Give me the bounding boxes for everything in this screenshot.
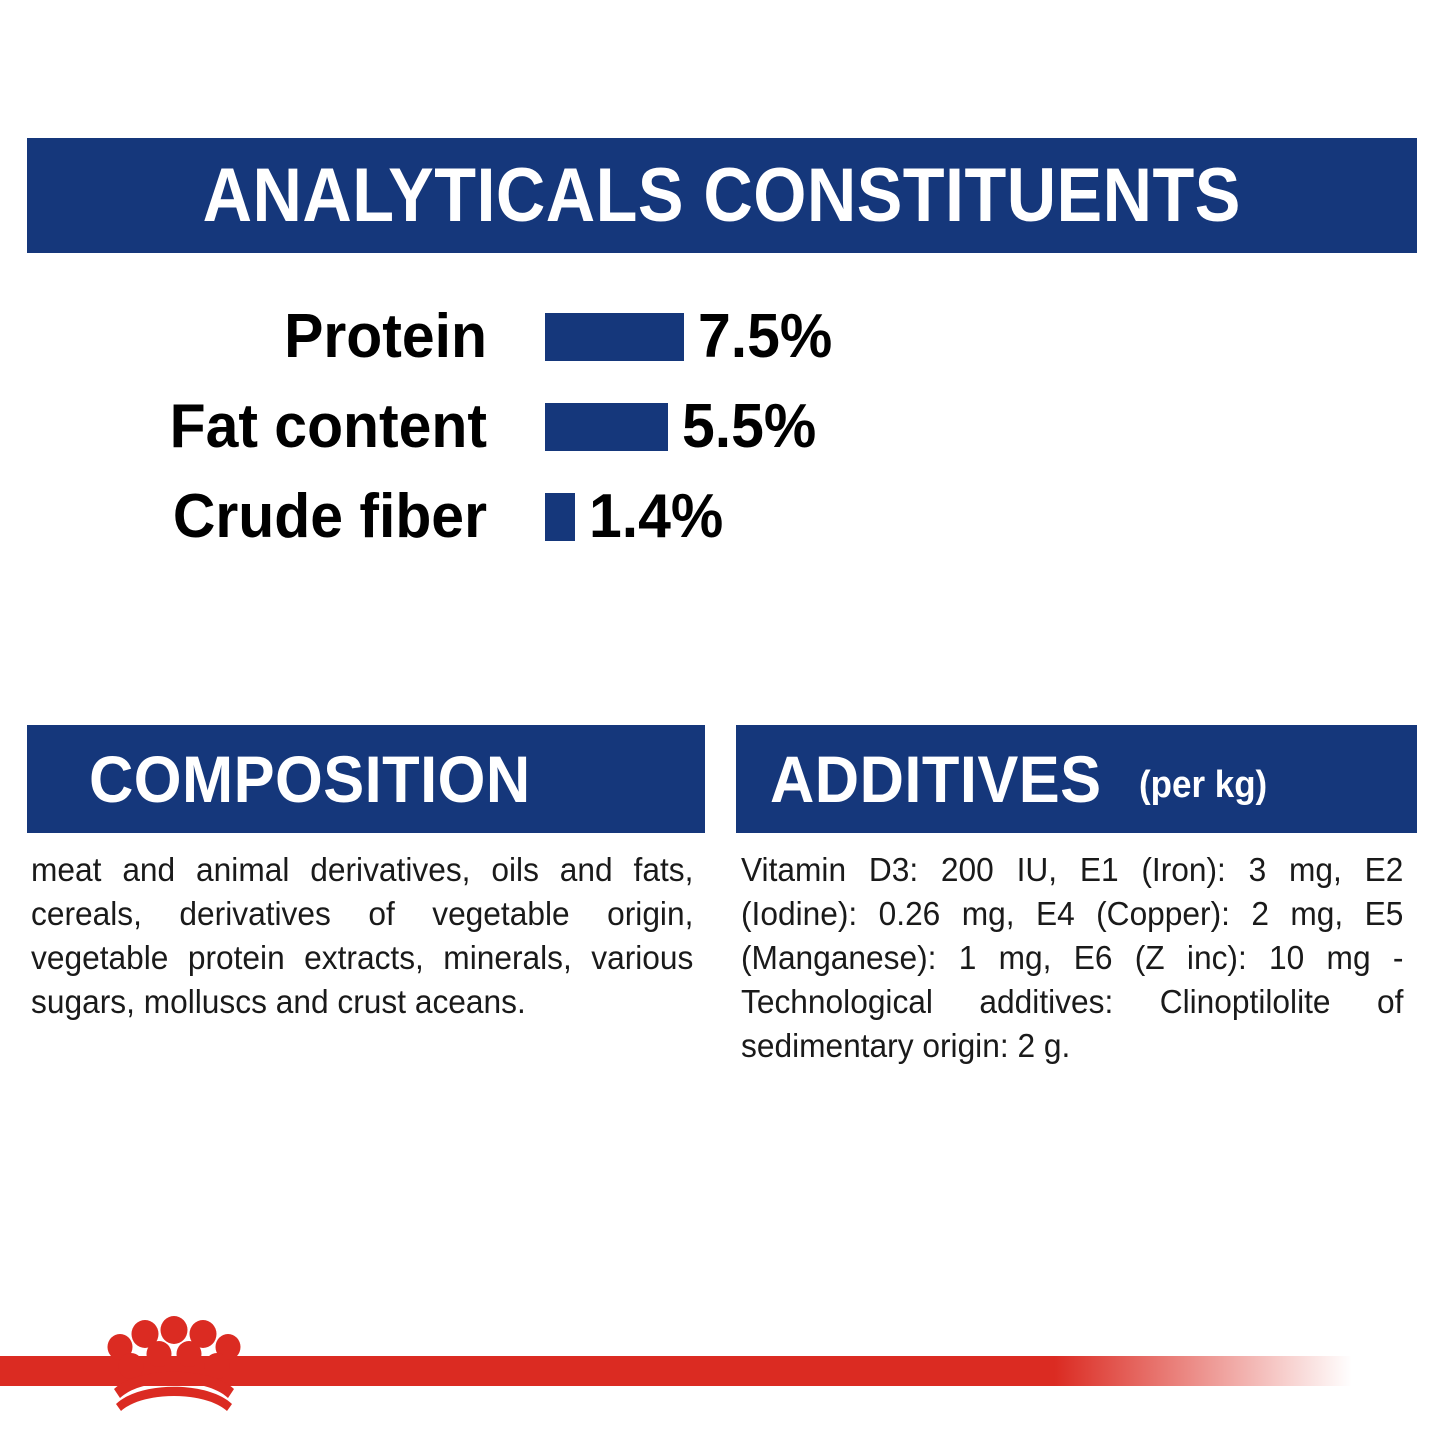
nutrient-meter-crude-fiber: 1.4% [545,472,730,562]
product-label-page: ANALYTICALS CONSTITUENTS Protein 7.5% Fa… [0,0,1445,1445]
nutrient-bar-crude-fiber [545,493,575,541]
royal-canin-crown-logo [100,1316,248,1412]
nutrient-meter-protein: 7.5% [545,292,839,382]
composition-body-text: meat and animal derivatives, oils and fa… [31,848,693,1024]
nutrient-row: Fat content 5.5% [0,382,1445,472]
additives-header: ADDITIVES (per kg) [736,725,1417,833]
nutrient-meter-fat-content: 5.5% [545,382,823,472]
analyticals-constituents-header: ANALYTICALS CONSTITUENTS [27,138,1417,253]
additives-title: ADDITIVES [770,746,1102,812]
crown-icon [100,1316,248,1412]
nutrient-label-crude-fiber: Crude fiber [24,486,487,548]
nutrient-value-protein: 7.5% [698,306,832,368]
analyticals-constituents-title: ANALYTICALS CONSTITUENTS [203,158,1241,234]
nutrient-bar-protein [545,313,684,361]
nutrient-value-crude-fiber: 1.4% [589,486,723,548]
additives-per-kg-note: (per kg) [1139,766,1267,804]
nutrient-row: Protein 7.5% [0,292,1445,382]
nutrient-label-protein: Protein [24,306,487,368]
composition-title: COMPOSITION [89,746,531,812]
nutrient-row: Crude fiber 1.4% [0,472,1445,562]
nutrient-label-fat-content: Fat content [24,396,487,458]
nutrient-bar-fat-content [545,403,668,451]
analyticals-constituents-chart: Protein 7.5% Fat content 5.5% Crude fibe… [0,292,1445,562]
composition-header: COMPOSITION [27,725,705,833]
nutrient-value-fat-content: 5.5% [682,396,816,458]
additives-body-text: Vitamin D3: 200 IU, E1 (Iron): 3 mg, E2 … [741,848,1403,1068]
